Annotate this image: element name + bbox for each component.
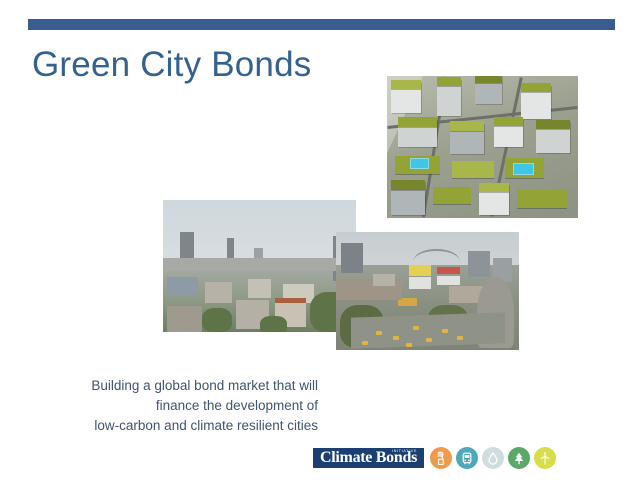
slide-canvas: Green City Bonds [0,0,640,480]
aerial-green-roof [437,77,462,86]
aerial-green-roof [536,120,570,129]
skyline-building [167,306,202,332]
street-taxi [413,326,419,330]
street-tower [468,251,490,277]
photo-aerial-green-roofs [387,76,578,218]
aerial-green-roof [452,161,494,178]
subtitle-block: Building a global bond market that will … [36,376,318,436]
aerial-green-roof [391,80,422,89]
street-billboard [437,267,461,274]
aerial-green-roof [391,180,425,190]
aerial-green-roof [475,76,502,83]
street-building [373,274,395,286]
photo-city-skyline-harbour [163,200,356,332]
page-title: Green City Bonds [32,45,311,85]
energy-bulb-icon[interactable] [430,447,452,469]
skyline-trees [202,308,233,332]
street-taxi [393,336,399,340]
street-taxi [457,336,463,340]
aerial-green-roof [450,121,484,131]
subtitle-line-1: Building a global bond market that will [36,376,318,396]
street-taxi [406,343,412,347]
aerial-rooftop-pool [410,158,429,169]
street-taxi [426,338,432,342]
skyline-trees [260,316,287,332]
aerial-rooftop-pool [513,163,534,175]
transport-bus-icon[interactable] [456,447,478,469]
street-taxi [442,329,448,333]
aerial-green-roof [494,117,523,126]
sector-icon-row [430,447,556,469]
aerial-green-roof [517,190,567,208]
subtitle-line-2: finance the development of [36,396,318,416]
street-billboard [409,277,431,289]
skyline-building [167,277,198,295]
street-taxi [362,341,368,345]
skyline-lowrise-band [163,258,356,271]
forestry-tree-icon[interactable] [508,447,530,469]
title-accent-bar [28,19,615,30]
skyline-building [205,282,232,303]
subtitle-line-3: low-carbon and climate resilient cities [36,416,318,436]
climate-bonds-logo[interactable]: Climate Bonds INITIATIVE [313,448,424,468]
aerial-green-roof [398,117,436,127]
aerial-green-roof [521,83,552,92]
photo-busy-intersection [336,232,519,350]
footer-branding: Climate Bonds INITIATIVE [313,447,556,469]
logo-initiative-text: INITIATIVE [392,449,417,453]
street-tower [341,243,363,274]
street-road [351,312,505,348]
street-billboard [437,276,461,285]
wind-turbine-icon[interactable] [534,447,556,469]
aerial-green-roof [479,183,510,193]
street-billboard [409,265,431,276]
water-drop-icon[interactable] [482,447,504,469]
skyline-building [248,279,271,297]
aerial-green-roof [433,187,471,204]
street-taxi [376,331,382,335]
